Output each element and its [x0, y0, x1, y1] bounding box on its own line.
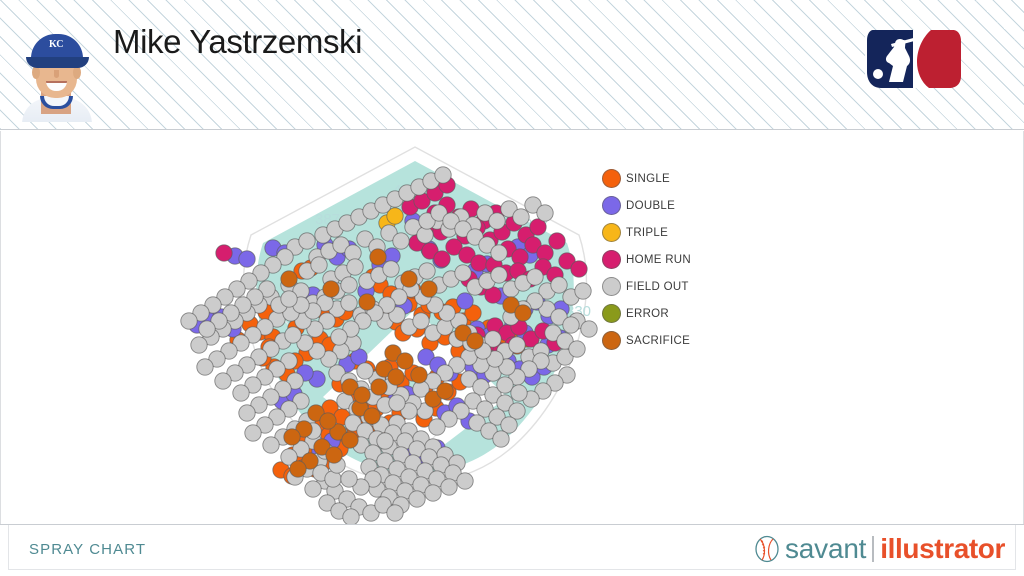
legend-item-label: SINGLE [626, 173, 670, 185]
hit-marker-sacrifice[interactable] [342, 432, 358, 448]
hit-marker-field-out[interactable] [331, 329, 347, 345]
hit-marker-field-out[interactable] [341, 277, 357, 293]
hit-marker-field-out[interactable] [409, 491, 425, 507]
hit-marker-field-out[interactable] [575, 283, 591, 299]
hit-marker-field-out[interactable] [511, 385, 527, 401]
hit-marker-sacrifice[interactable] [437, 383, 453, 399]
hit-marker-field-out[interactable] [181, 313, 197, 329]
legend-swatch-icon [602, 250, 621, 269]
legend-swatch-icon [602, 277, 621, 296]
hit-marker-sacrifice[interactable] [371, 379, 387, 395]
hit-marker-sacrifice[interactable] [326, 447, 342, 463]
hit-marker-sacrifice[interactable] [359, 294, 375, 310]
hit-marker-field-out[interactable] [563, 317, 579, 333]
brand-separator [872, 536, 874, 562]
footer-inner: SPRAY CHART savant illustrator [8, 525, 1016, 570]
hit-marker-field-out[interactable] [425, 485, 441, 501]
hit-marker-field-out[interactable] [489, 213, 505, 229]
legend-item-home-run[interactable]: HOME RUN [602, 246, 782, 273]
headshot-cap-logo: KC [49, 39, 63, 50]
hit-marker-field-out[interactable] [551, 277, 567, 293]
player-headshot: KC [20, 18, 94, 122]
savant-illustrator-brand: savant illustrator [753, 533, 1005, 565]
hit-marker-sacrifice[interactable] [370, 249, 386, 265]
hit-marker-field-out[interactable] [347, 259, 363, 275]
legend-swatch-icon [602, 304, 621, 323]
hit-marker-sacrifice[interactable] [320, 413, 336, 429]
hit-marker-sacrifice[interactable] [397, 353, 413, 369]
hit-marker-field-out[interactable] [435, 167, 451, 183]
hit-marker-sacrifice[interactable] [354, 387, 370, 403]
hit-marker-field-out[interactable] [455, 265, 471, 281]
hit-marker-sacrifice[interactable] [421, 281, 437, 297]
hit-marker-field-out[interactable] [311, 257, 327, 273]
baseball-icon [753, 535, 781, 563]
legend-item-label: SACRIFICE [626, 335, 690, 347]
legend-item-field-out[interactable]: FIELD OUT [602, 273, 782, 300]
hit-marker-sacrifice[interactable] [411, 367, 427, 383]
legend-item-sacrifice[interactable]: SACRIFICE [602, 327, 782, 354]
hit-marker-home-run[interactable] [471, 255, 487, 271]
hit-marker-field-out[interactable] [569, 341, 585, 357]
hit-marker-field-out[interactable] [513, 209, 529, 225]
headshot-cap-brim [26, 57, 89, 68]
hit-marker-double[interactable] [239, 251, 255, 267]
hit-marker-double[interactable] [457, 293, 473, 309]
hit-marker-field-out[interactable] [191, 337, 207, 353]
hit-marker-field-out[interactable] [341, 295, 357, 311]
hit-marker-sacrifice[interactable] [401, 271, 417, 287]
hit-marker-field-out[interactable] [509, 337, 525, 353]
hit-marker-field-out[interactable] [233, 385, 249, 401]
chart-legend: SINGLEDOUBLETRIPLEHOME RUNFIELD OUTERROR… [602, 165, 782, 354]
hit-marker-sacrifice[interactable] [364, 408, 380, 424]
hit-marker-field-out[interactable] [393, 233, 409, 249]
hit-marker-field-out[interactable] [299, 233, 315, 249]
hit-marker-field-out[interactable] [215, 373, 231, 389]
hit-marker-sacrifice[interactable] [388, 369, 404, 385]
page-title: Mike Yastrzemski [113, 23, 362, 61]
spray-chart-plot: 330387410387330 [1, 131, 1024, 524]
legend-item-label: ERROR [626, 308, 669, 320]
brand-illustrator-text: illustrator [880, 533, 1005, 565]
spray-chart-page: KC Mike Yastrzemski [0, 0, 1024, 576]
hit-marker-field-out[interactable] [357, 363, 373, 379]
hit-marker-field-out[interactable] [199, 321, 215, 337]
page-header: KC Mike Yastrzemski [0, 0, 1024, 130]
hit-marker-field-out[interactable] [281, 291, 297, 307]
hit-marker-home-run[interactable] [434, 251, 450, 267]
hit-marker-field-out[interactable] [245, 425, 261, 441]
headshot-nose [54, 70, 59, 78]
brand-savant-text: savant [785, 533, 866, 565]
hit-marker-home-run[interactable] [216, 245, 232, 261]
hit-marker-field-out[interactable] [305, 481, 321, 497]
hit-marker-sacrifice[interactable] [467, 333, 483, 349]
hit-marker-home-run[interactable] [549, 233, 565, 249]
hit-marker-field-out[interactable] [383, 261, 399, 277]
legend-swatch-icon [602, 331, 621, 350]
hit-marker-field-out[interactable] [387, 505, 403, 521]
hit-marker-field-out[interactable] [197, 359, 213, 375]
hit-marker-field-out[interactable] [285, 327, 301, 343]
mlb-logo-icon [859, 26, 967, 92]
legend-item-label: TRIPLE [626, 227, 668, 239]
hit-marker-field-out[interactable] [263, 437, 279, 453]
hit-marker-field-out[interactable] [343, 509, 359, 524]
hit-marker-home-run[interactable] [571, 261, 587, 277]
chart-body: 330387410387330 SINGLEDOUBLETRIPLEHOME R… [0, 131, 1024, 524]
hit-marker-field-out[interactable] [341, 471, 357, 487]
legend-swatch-icon [602, 196, 621, 215]
hit-marker-field-out[interactable] [389, 395, 405, 411]
hit-marker-field-out[interactable] [491, 267, 507, 283]
hit-marker-sacrifice[interactable] [290, 461, 306, 477]
hit-marker-field-out[interactable] [537, 205, 553, 221]
legend-item-label: DOUBLE [626, 200, 675, 212]
chart-type-label: SPRAY CHART [29, 541, 146, 558]
legend-item-single[interactable]: SINGLE [602, 165, 782, 192]
hit-marker-sacrifice[interactable] [515, 305, 531, 321]
hit-marker-field-out[interactable] [441, 479, 457, 495]
hit-marker-sacrifice[interactable] [284, 429, 300, 445]
legend-item-label: FIELD OUT [626, 281, 689, 293]
hit-marker-sacrifice[interactable] [281, 271, 297, 287]
hit-marker-field-out[interactable] [457, 473, 473, 489]
header-inner: KC Mike Yastrzemski [8, 4, 1016, 125]
legend-item-error[interactable]: ERROR [602, 300, 782, 327]
hit-marker-field-out[interactable] [419, 263, 435, 279]
hit-marker-field-out[interactable] [493, 431, 509, 447]
hit-markers [181, 167, 597, 524]
hit-marker-field-out[interactable] [377, 433, 393, 449]
legend-swatch-icon [602, 223, 621, 242]
legend-item-label: HOME RUN [626, 254, 691, 266]
legend-item-double[interactable]: DOUBLE [602, 192, 782, 219]
legend-item-triple[interactable]: TRIPLE [602, 219, 782, 246]
hit-marker-field-out[interactable] [429, 419, 445, 435]
legend-swatch-icon [602, 169, 621, 188]
hit-marker-field-out[interactable] [491, 245, 507, 261]
page-footer: SPRAY CHART savant illustrator [0, 524, 1024, 576]
hit-marker-field-out[interactable] [581, 321, 597, 337]
hit-marker-field-out[interactable] [527, 269, 543, 285]
hit-marker-sacrifice[interactable] [323, 281, 339, 297]
hit-marker-field-out[interactable] [239, 405, 255, 421]
hit-marker-field-out[interactable] [413, 313, 429, 329]
